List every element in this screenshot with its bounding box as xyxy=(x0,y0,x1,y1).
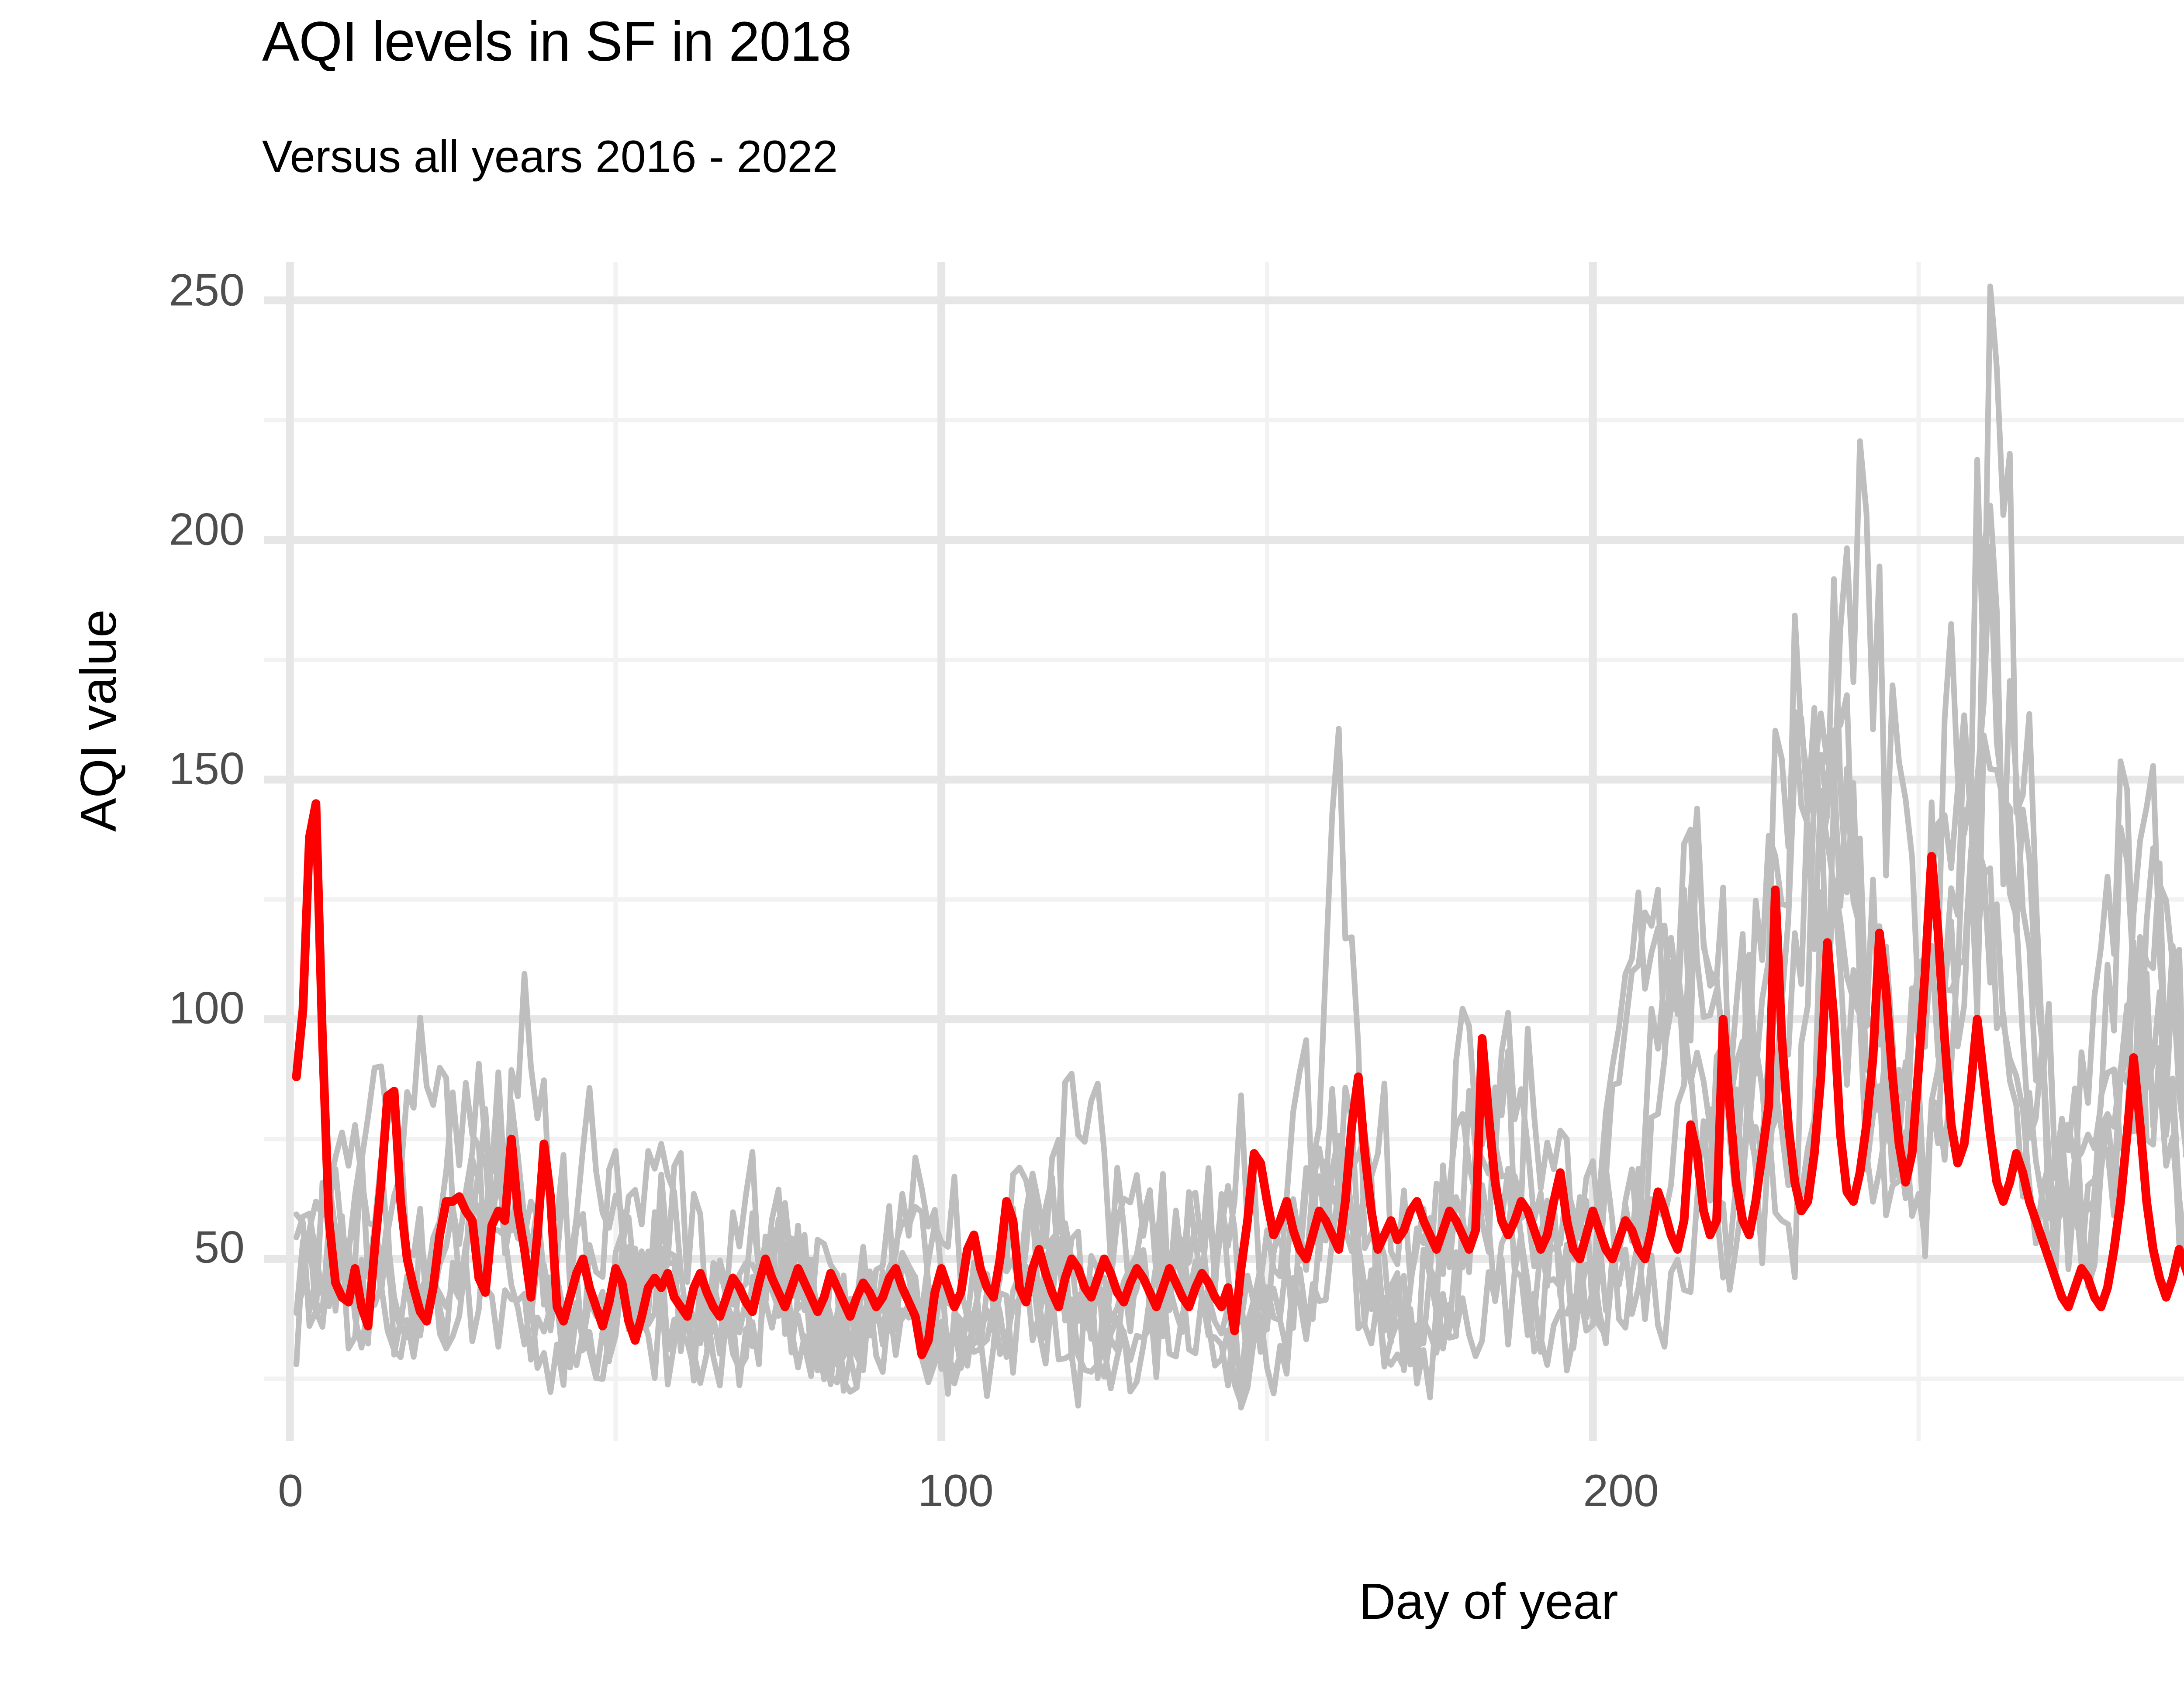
plot-panel xyxy=(264,262,2184,1441)
x-tick-100: 100 xyxy=(918,1465,994,1517)
y-tick-100: 100 xyxy=(17,983,245,1034)
chart-page: AQI levels in SF in 2018 Versus all year… xyxy=(0,0,2184,1700)
x-axis-label: Day of year xyxy=(264,1572,2184,1631)
y-axis-tick-labels: 250 200 150 100 50 xyxy=(0,0,245,1700)
x-tick-200: 200 xyxy=(1583,1465,1659,1517)
y-tick-200: 200 xyxy=(17,504,245,556)
background-series-group xyxy=(297,286,2184,1408)
y-tick-50: 50 xyxy=(17,1222,245,1274)
y-tick-250: 250 xyxy=(17,265,245,317)
chart-subtitle: Versus all years 2016 - 2022 xyxy=(262,131,838,183)
plot-area xyxy=(264,262,2184,1441)
y-tick-150: 150 xyxy=(17,743,245,795)
chart-title: AQI levels in SF in 2018 xyxy=(262,10,851,74)
x-tick-0: 0 xyxy=(278,1465,303,1517)
